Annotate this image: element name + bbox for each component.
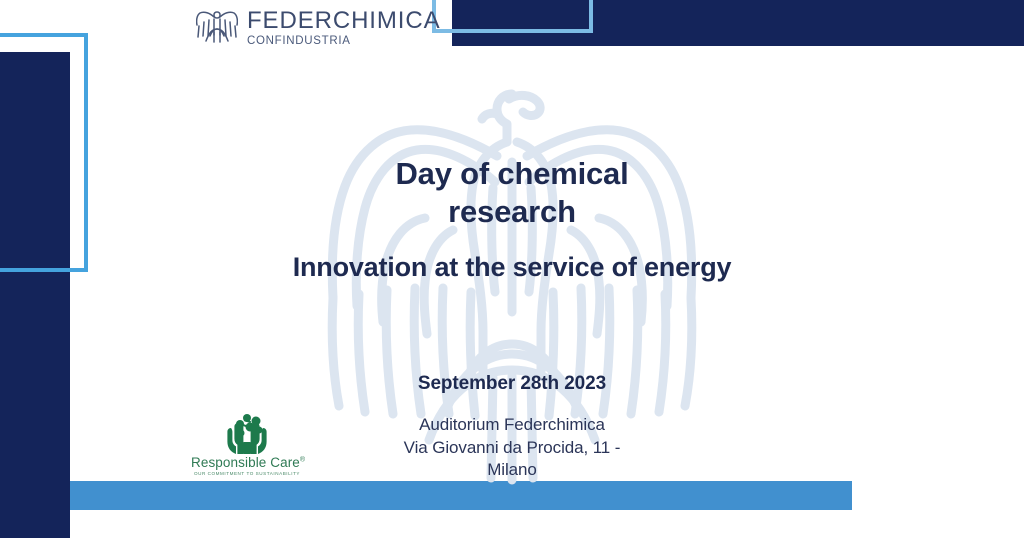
venue-line-3: Milano	[487, 460, 536, 479]
registered-trademark-symbol: ®	[300, 457, 305, 464]
slide-subtitle: Innovation at the service of energy	[82, 251, 942, 284]
slide-title: Day of chemical research	[202, 155, 822, 231]
hands-holding-molecules-icon	[191, 414, 303, 454]
event-venue: Auditorium Federchimica Via Giovanni da …	[297, 414, 727, 482]
title-line-2: research	[448, 194, 576, 229]
title-line-1: Day of chemical	[395, 156, 628, 191]
event-date: September 28th 2023	[202, 373, 822, 395]
responsible-care-logo: Responsible Care® OUR COMMITMENT TO SUST…	[191, 414, 303, 476]
responsible-care-name: Responsible Care	[191, 455, 300, 470]
venue-line-1: Auditorium Federchimica	[419, 415, 605, 434]
slide-content: Day of chemical research Innovation at t…	[0, 0, 1024, 538]
presentation-slide: FEDERCHIMICA CONFINDUSTRIA Day of chemic…	[0, 0, 1024, 538]
responsible-care-wordmark: Responsible Care®	[191, 455, 303, 470]
venue-line-2: Via Giovanni da Procida, 11 -	[404, 438, 621, 457]
responsible-care-tagline: OUR COMMITMENT TO SUSTAINABILITY	[191, 471, 303, 476]
